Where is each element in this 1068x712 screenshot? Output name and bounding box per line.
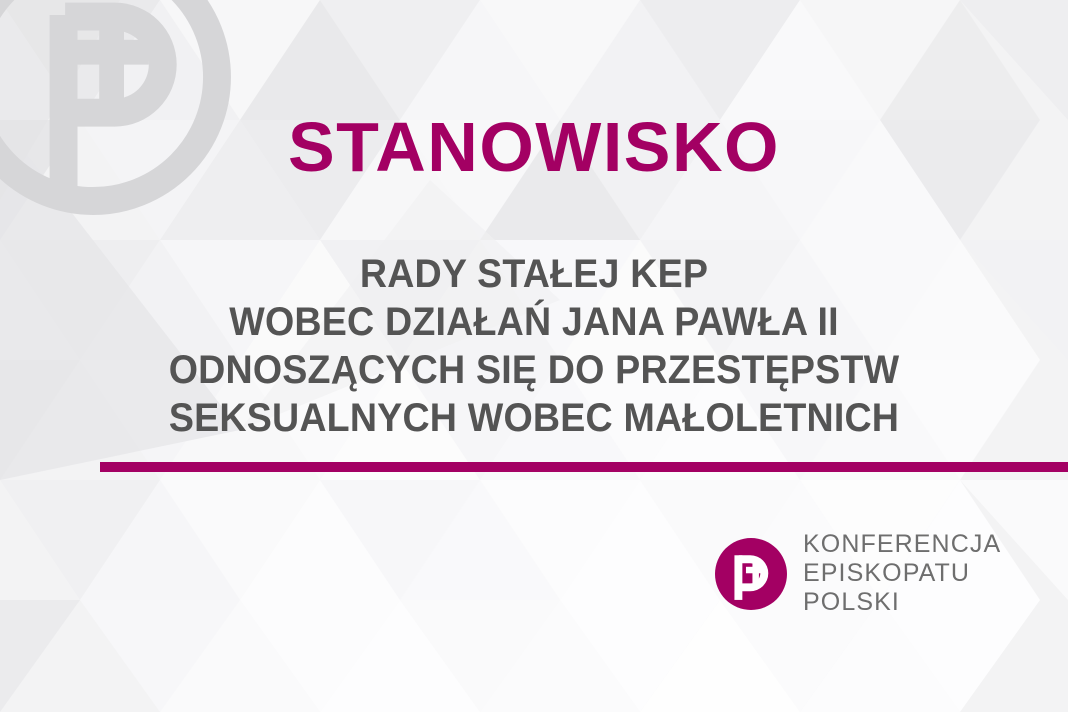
page-title: STANOWISKO <box>0 112 1068 182</box>
horizontal-divider <box>100 462 1068 472</box>
kep-logo-lockup: KONFERENCJA EPISKOPATU POLSKI <box>715 530 1001 617</box>
kep-logo-line-1: KONFERENCJA <box>803 530 1001 559</box>
kep-logo-wordmark: KONFERENCJA EPISKOPATU POLSKI <box>803 530 1001 617</box>
kep-p-cross-logo-icon <box>715 538 787 610</box>
subtitle-line-2: WOBEC DZIAŁAŃ JANA PAWŁA II <box>32 298 1036 346</box>
subtitle-line-3: ODNOSZĄCYCH SIĘ DO PRZESTĘPSTW <box>32 346 1036 394</box>
subtitle-line-1: RADY STAŁEJ KEP <box>32 250 1036 298</box>
slide-canvas: STANOWISKO RADY STAŁEJ KEP WOBEC DZIAŁAŃ… <box>0 0 1068 712</box>
subtitle-block: RADY STAŁEJ KEP WOBEC DZIAŁAŃ JANA PAWŁA… <box>0 250 1068 442</box>
kep-logo-line-3: POLSKI <box>803 588 1001 617</box>
subtitle-line-4: SEKSUALNYCH WOBEC MAŁOLETNICH <box>32 394 1036 442</box>
kep-logo-line-2: EPISKOPATU <box>803 559 1001 588</box>
